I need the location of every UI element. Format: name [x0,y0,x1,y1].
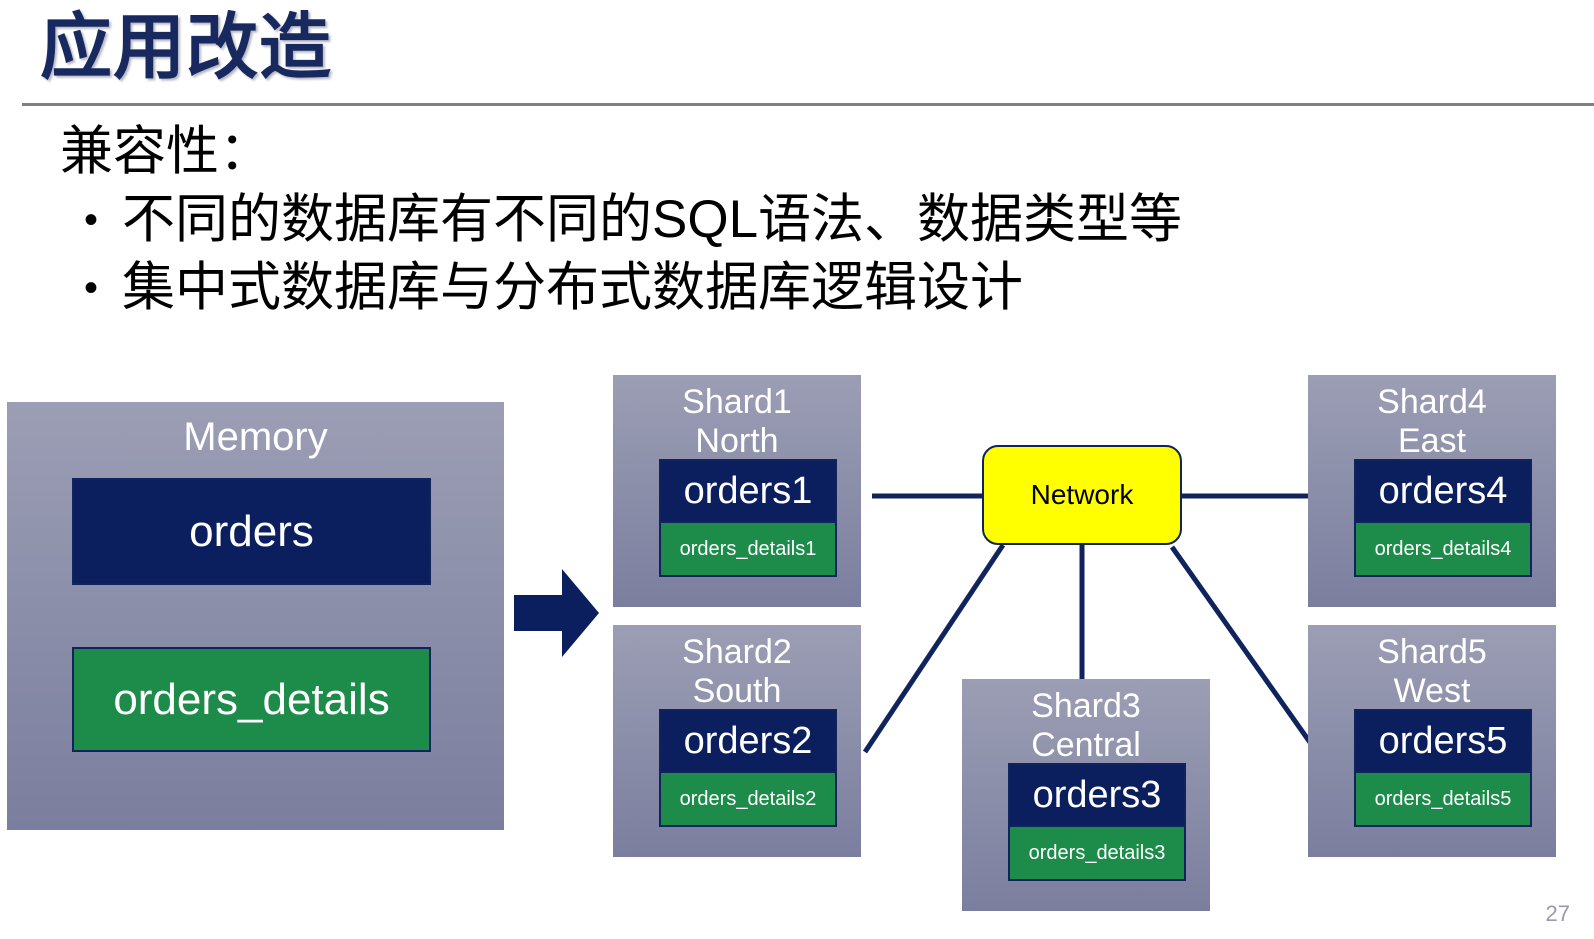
shard3-tables: orders3 orders_details3 [1008,763,1186,881]
shard-panel-shard2: Shard2 South orders2 orders_details2 [613,625,861,857]
memory-orders-details-table: orders_details [72,647,431,752]
shard3-title: Shard3 Central [962,679,1210,765]
shard2-tables: orders2 orders_details2 [659,709,837,827]
memory-panel-title: Memory [7,402,504,460]
shard2-details-table: orders_details2 [659,771,837,827]
shard-panel-shard1: Shard1 North orders1 orders_details1 [613,375,861,607]
network-node: Network [982,445,1182,545]
shard-panel-shard4: Shard4 East orders4 orders_details4 [1308,375,1556,607]
shard4-tables: orders4 orders_details4 [1354,459,1532,577]
shard2-orders-table: orders2 [659,709,837,771]
shard4-orders-table: orders4 [1354,459,1532,521]
memory-orders-table: orders [72,478,431,585]
shard-panel-shard3: Shard3 Central orders3 orders_details3 [962,679,1210,911]
shard2-title: Shard2 South [613,625,861,711]
shard4-details-table: orders_details4 [1354,521,1532,577]
shard3-details-table: orders_details3 [1008,825,1186,881]
right-arrow-icon [514,569,599,657]
shard5-orders-table: orders5 [1354,709,1532,771]
shard5-title: Shard5 West [1308,625,1556,711]
shard-panel-shard5: Shard5 West orders5 orders_details5 [1308,625,1556,857]
shard4-title: Shard4 East [1308,375,1556,461]
shard5-details-table: orders_details5 [1354,771,1532,827]
shard1-orders-table: orders1 [659,459,837,521]
shard1-details-table: orders_details1 [659,521,837,577]
shard3-orders-table: orders3 [1008,763,1186,825]
slide-canvas: 应用改造 兼容性： • 不同的数据库有不同的SQL语法、数据类型等 • 集中式数… [0,0,1594,939]
architecture-diagram: Memory orders orders_details Shard1 Nort… [0,0,1594,939]
memory-panel: Memory [7,402,504,830]
shard1-title: Shard1 North [613,375,861,461]
shard5-tables: orders5 orders_details5 [1354,709,1532,827]
shard1-tables: orders1 orders_details1 [659,459,837,577]
slide-page-number: 27 [1546,901,1570,927]
